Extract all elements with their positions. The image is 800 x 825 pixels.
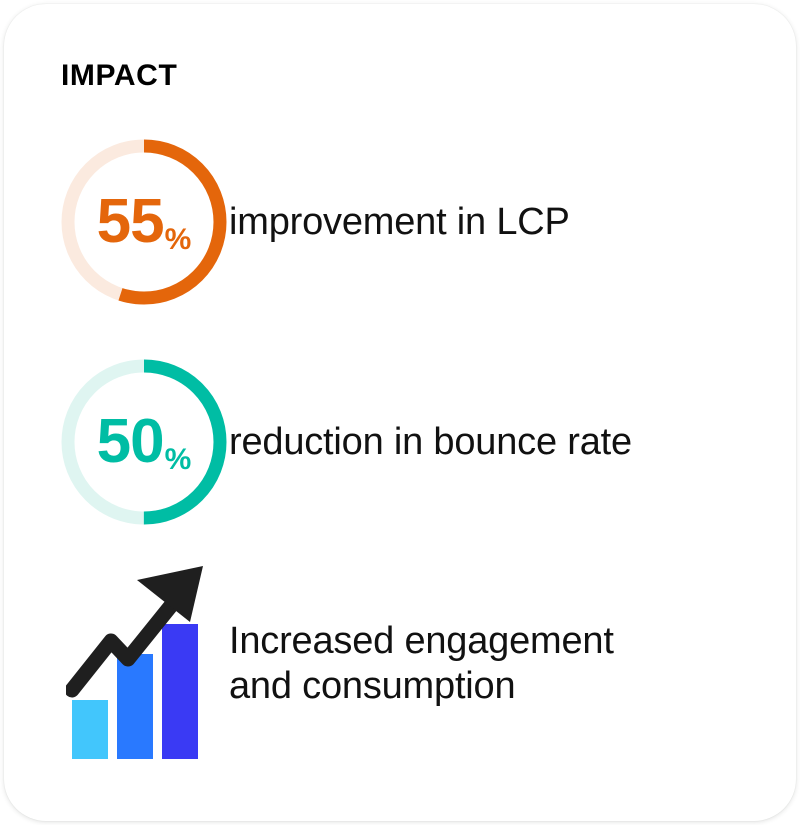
growth-chart-icon-svg [66,564,211,759]
gauge-value-number-bounce-rate: 50 [97,411,164,473]
gauge-value-number-lcp: 55 [97,191,164,253]
stat-label-engagement-line-2: and consumption [229,664,614,709]
donut-gauge-bounce-rate: 50 % [4,359,229,525]
bar-3 [162,624,198,759]
stat-row-engagement: Increased engagement and consumption [4,564,614,764]
gauge-percent-sign-bounce-rate: % [165,445,192,475]
stat-label-engagement-line-1: Increased engagement [229,619,614,664]
stat-label-lcp: improvement in LCP [229,200,570,245]
stat-label-bounce-rate: reduction in bounce rate [229,420,632,465]
impact-card: IMPACT 55 % improvement in LCP 50 % [4,4,796,821]
gauge-percent-sign-lcp: % [165,225,192,255]
gauge-value-label-lcp: 55 % [61,139,227,305]
stat-label-engagement: Increased engagement and consumption [229,619,614,709]
bar-1 [72,700,108,759]
stat-row-lcp: 55 % improvement in LCP [4,139,570,305]
stat-row-bounce-rate: 50 % reduction in bounce rate [4,359,632,525]
growth-chart-icon [4,564,229,764]
page-title: IMPACT [61,61,177,91]
bar-2 [117,654,153,759]
donut-gauge-lcp: 55 % [4,139,229,305]
gauge-value-label-bounce-rate: 50 % [61,359,227,525]
